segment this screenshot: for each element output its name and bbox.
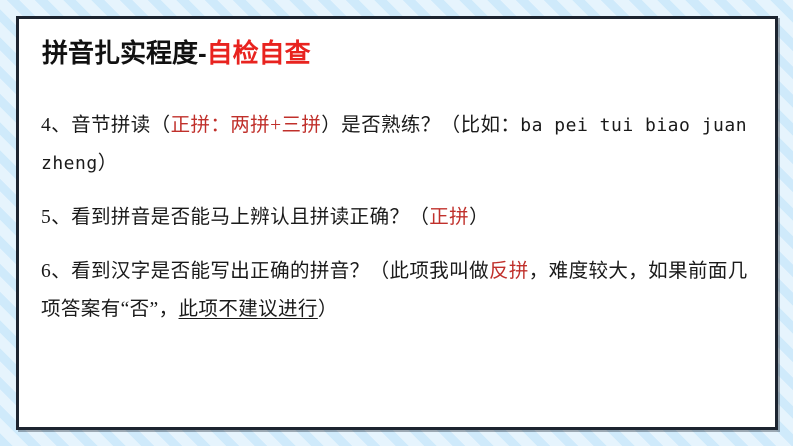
body-content: 4、音节拼读（正拼：两拼+三拼）是否熟练？（比如：ba pei tui biao… xyxy=(41,107,757,329)
slide-canvas: 拼音扎实程度-自检自查 4、音节拼读（正拼：两拼+三拼）是否熟练？（比如：ba … xyxy=(0,0,793,446)
item-number: 4、 xyxy=(41,115,71,136)
list-item: 5、看到拼音是否能马上辨认且拼读正确？（正拼） xyxy=(41,199,757,237)
list-item: 4、音节拼读（正拼：两拼+三拼）是否熟练？（比如：ba pei tui biao… xyxy=(41,107,757,183)
item-text-c: ） xyxy=(98,153,118,174)
page-title: 拼音扎实程度-自检自查 xyxy=(42,39,311,68)
item-highlight-a: 正拼 xyxy=(429,207,469,228)
item-text-a: 看到拼音是否能马上辨认且拼读正确？（ xyxy=(71,207,429,228)
item-text-b: ）是否熟练？（比如： xyxy=(321,115,520,136)
item-text-b: ） xyxy=(469,207,489,228)
page-title-red: 自检自查 xyxy=(207,38,311,68)
item-text-c: ） xyxy=(318,299,338,320)
page-title-black: 拼音扎实程度- xyxy=(42,38,207,68)
item-number: 6、 xyxy=(41,261,71,282)
content-card: 拼音扎实程度-自检自查 4、音节拼读（正拼：两拼+三拼）是否熟练？（比如：ba … xyxy=(16,16,778,430)
item-underline-a: 此项不建议进行 xyxy=(179,299,318,320)
item-text-a: 音节拼读（ xyxy=(71,115,171,136)
item-text-a: 看到汉字是否能写出正确的拼音？（此项我叫做 xyxy=(71,261,489,282)
item-highlight-a: 正拼：两拼+三拼 xyxy=(171,115,322,136)
item-number: 5、 xyxy=(41,207,71,228)
list-item: 6、看到汉字是否能写出正确的拼音？（此项我叫做反拼，难度较大，如果前面几项答案有… xyxy=(41,253,757,329)
item-highlight-a: 反拼 xyxy=(489,261,529,282)
